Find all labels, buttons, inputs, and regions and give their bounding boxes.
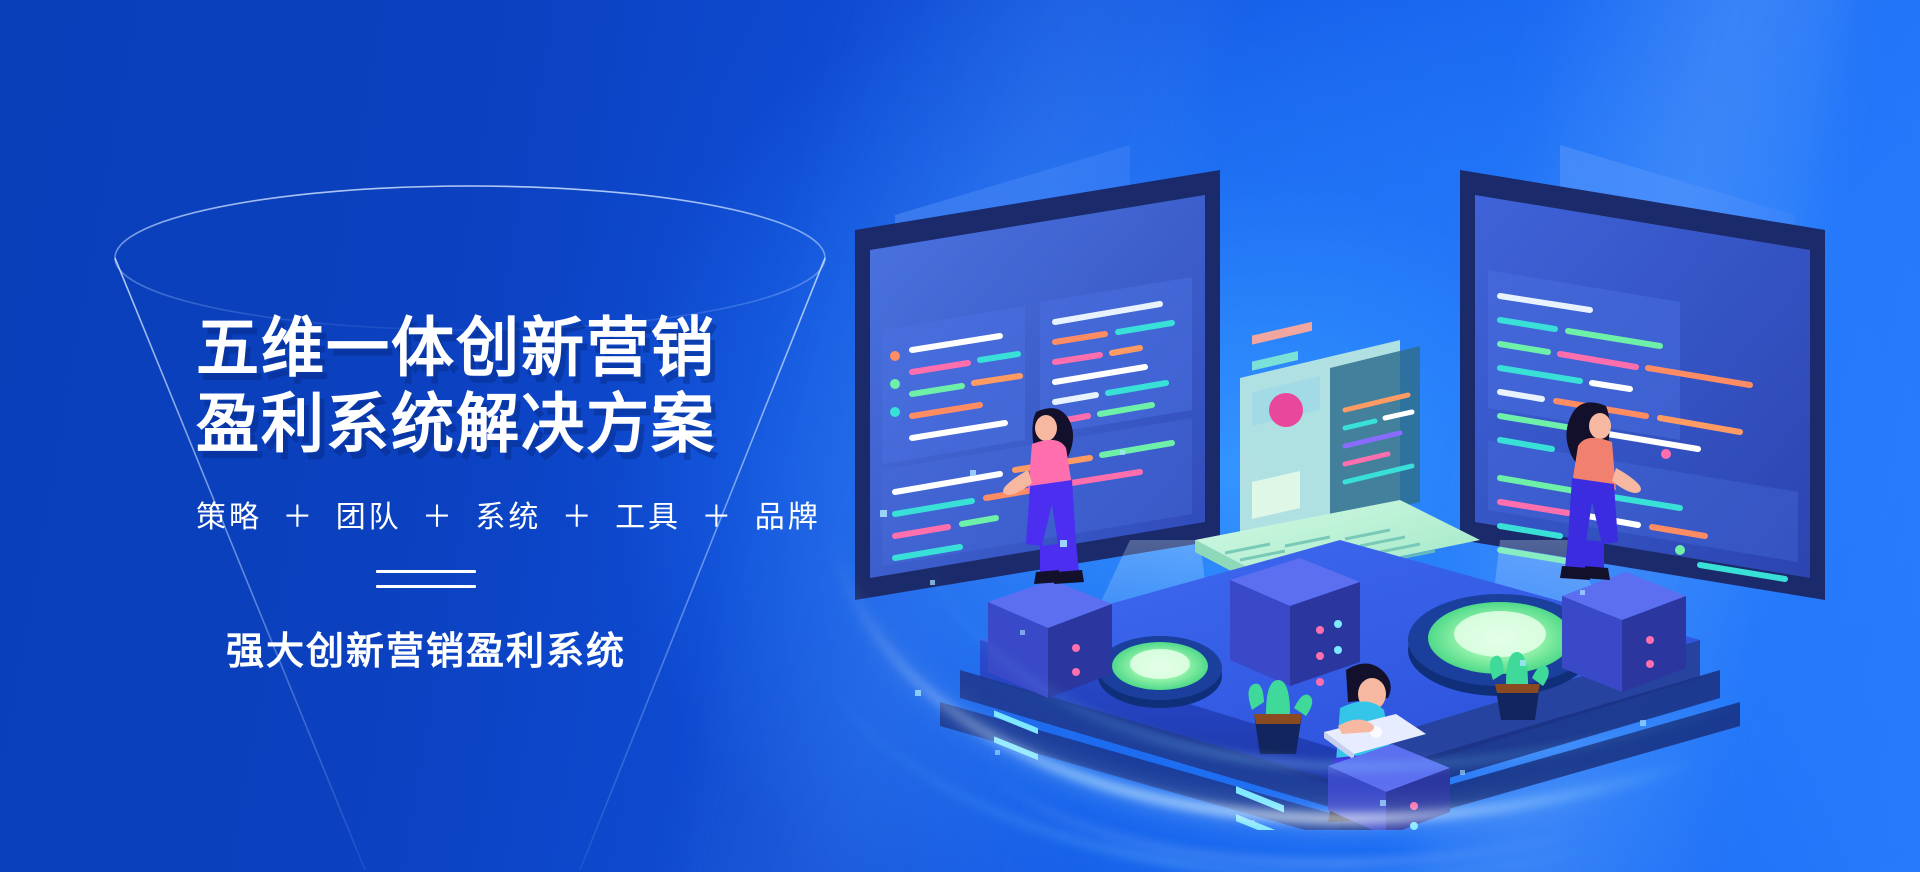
plus-separator-4: ＋ xyxy=(701,492,734,536)
pillar-1: 策略 xyxy=(196,501,262,534)
double-divider xyxy=(196,570,656,588)
page-title: 五维一体创新营销 盈利系统解决方案 xyxy=(196,310,720,462)
pillar-2: 团队 xyxy=(336,501,402,534)
plus-separator-3: ＋ xyxy=(562,492,595,536)
tagline: 强大创新营销盈利系统 xyxy=(196,620,656,675)
subtitle-pillars: 策略 ＋ 团队 ＋ 系统 ＋ 工具 ＋ 品牌 xyxy=(196,492,656,536)
headline-line-2: 盈利系统解决方案 xyxy=(196,386,720,462)
banner-copy: 五维一体创新营销 盈利系统解决方案 策略 ＋ 团队 ＋ 系统 ＋ 工具 ＋ 品牌… xyxy=(196,310,736,675)
pillar-3: 系统 xyxy=(475,501,541,534)
divider-line-bottom xyxy=(376,585,476,588)
plus-separator-2: ＋ xyxy=(422,492,455,536)
isometric-illustration xyxy=(800,110,1880,830)
headline-line-1: 五维一体创新营销 xyxy=(196,310,720,386)
glow-disc-left xyxy=(1098,636,1222,708)
pillar-4: 工具 xyxy=(615,501,681,534)
monitor-right xyxy=(1460,170,1825,600)
marketing-banner: 五维一体创新营销 盈利系统解决方案 策略 ＋ 团队 ＋ 系统 ＋ 工具 ＋ 品牌… xyxy=(0,0,1920,872)
divider-line-top xyxy=(376,570,476,573)
plus-separator-1: ＋ xyxy=(282,492,315,536)
